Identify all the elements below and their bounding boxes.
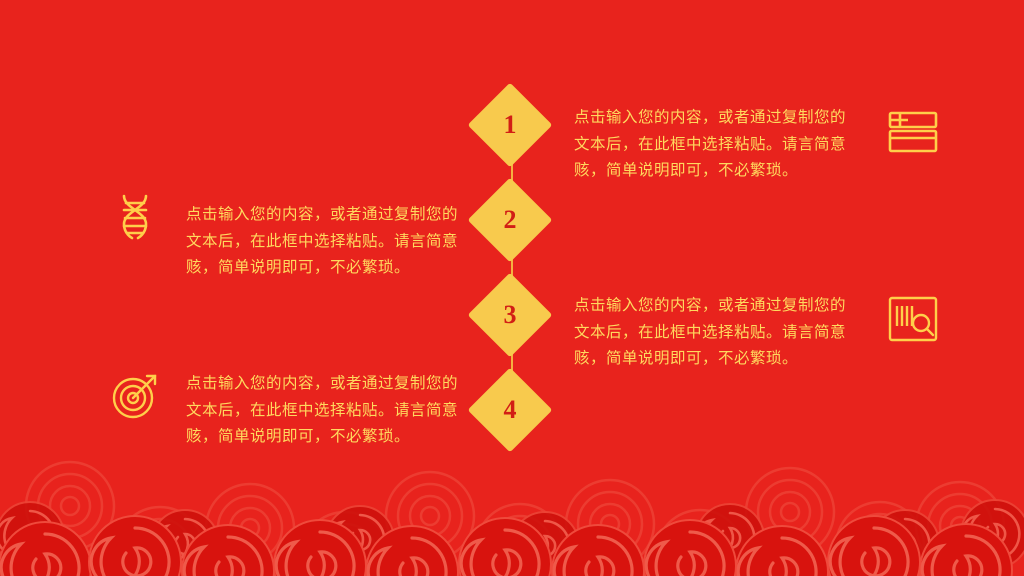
content-block-bottom-left: 点击输入您的内容，或者通过复制您的文本后，在此框中选择粘贴。请言简意赅，简单说明… (186, 370, 471, 450)
timeline-marker-4[interactable]: 4 (468, 368, 553, 453)
timeline-marker-1-number: 1 (480, 95, 540, 155)
dna-icon (108, 190, 162, 244)
target-arrow-icon (108, 368, 162, 422)
timeline: 1 2 3 4 (480, 95, 544, 435)
timeline-marker-2[interactable]: 2 (468, 178, 553, 263)
content-block-middle-left: 点击输入您的内容，或者通过复制您的文本后，在此框中选择粘贴。请言简意赅，简单说明… (186, 201, 471, 281)
timeline-marker-3-number: 3 (480, 285, 540, 345)
timeline-marker-2-number: 2 (480, 190, 540, 250)
timeline-marker-3[interactable]: 3 (468, 273, 553, 358)
content-block-top-right: 点击输入您的内容，或者通过复制您的文本后，在此框中选择粘贴。请言简意赅，简单说明… (574, 104, 859, 184)
chart-search-icon (886, 292, 940, 346)
timeline-marker-4-number: 4 (480, 380, 540, 440)
timeline-marker-1[interactable]: 1 (468, 83, 553, 168)
window-icon (886, 105, 940, 159)
content-block-bottom-right: 点击输入您的内容，或者通过复制您的文本后，在此框中选择粘贴。请言简意赅，简单说明… (574, 292, 859, 372)
timeline-connector (511, 125, 513, 410)
